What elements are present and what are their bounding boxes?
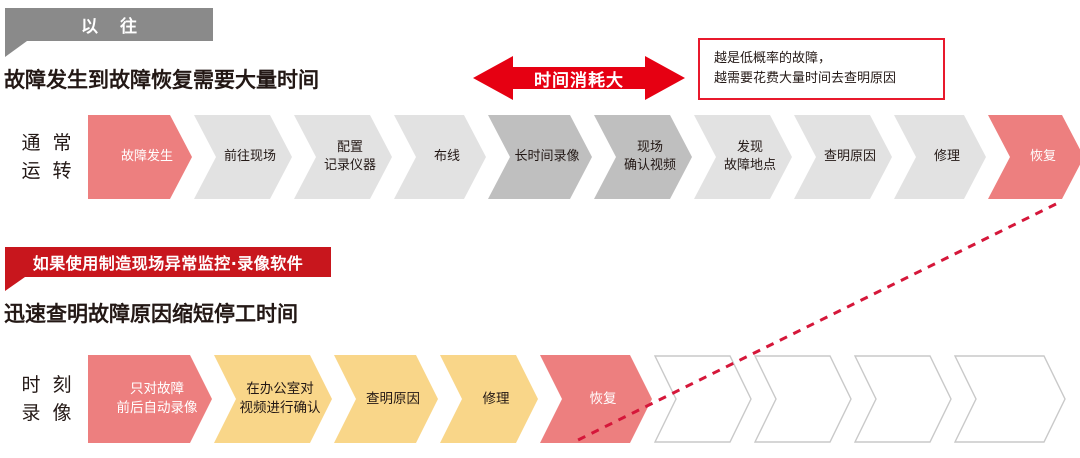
before-heading: 故障发生到故障恢复需要大量时间 xyxy=(4,64,319,94)
after-step-1-label: 只对故障 前后自动录像 xyxy=(103,380,198,417)
before-step-4-label: 布线 xyxy=(420,148,460,166)
after-banner-tail xyxy=(5,277,25,291)
empty-chevron-outline xyxy=(954,355,1066,443)
before-step-10: 恢复 xyxy=(988,115,1080,199)
after-banner: 如果使用制造现场异常监控·录像软件 xyxy=(5,247,331,277)
after-row-label: 时 刻 录 像 xyxy=(12,372,84,427)
before-step-3-label: 配置 记录仪器 xyxy=(310,139,376,175)
before-step-9: 修理 xyxy=(894,115,986,199)
low-probability-callout: 越是低概率的故障， 越需要花费大量时间去查明原因 xyxy=(698,38,945,100)
before-step-8-label: 查明原因 xyxy=(810,148,876,166)
after-heading: 迅速查明故障原因缩短停工时间 xyxy=(4,298,298,328)
before-row-label-line-1: 通 常 xyxy=(12,130,84,158)
after-process-flow: 只对故障 前后自动录像在办公室对 视频进行确认查明原因修理恢复 xyxy=(88,355,1068,443)
before-step-5: 长时间录像 xyxy=(488,115,592,199)
after-step-4-label: 修理 xyxy=(469,390,510,409)
before-step-1: 故障发生 xyxy=(88,115,192,199)
before-process-flow: 故障发生前往现场配置 记录仪器布线长时间录像现场 确认视频发现 故障地点查明原因… xyxy=(88,115,1080,199)
after-step-8 xyxy=(854,355,952,443)
before-row-label-line-2: 运 转 xyxy=(12,158,84,186)
before-step-6: 现场 确认视频 xyxy=(594,115,692,199)
before-step-4: 布线 xyxy=(394,115,486,199)
before-banner-label: 以 往 xyxy=(73,12,145,37)
after-step-3-label: 查明原因 xyxy=(352,390,420,409)
after-step-7 xyxy=(754,355,852,443)
after-step-5: 恢复 xyxy=(540,355,652,443)
before-step-5-label: 长时间录像 xyxy=(500,148,579,166)
infographic-canvas: 以 往 故障发生到故障恢复需要大量时间 时间消耗大 越是低概率的故障， 越需要花… xyxy=(0,0,1080,458)
before-step-2: 前往现场 xyxy=(194,115,292,199)
empty-chevron-outline xyxy=(654,355,752,443)
after-step-6 xyxy=(654,355,752,443)
before-step-1-label: 故障发生 xyxy=(107,148,173,166)
after-step-1: 只对故障 前后自动录像 xyxy=(88,355,212,443)
before-step-7-label: 发现 故障地点 xyxy=(710,139,776,175)
time-consumption-arrow-label: 时间消耗大 xyxy=(473,54,685,102)
before-step-10-label: 恢复 xyxy=(1016,148,1056,166)
after-step-5-label: 恢复 xyxy=(576,390,617,409)
empty-chevron-outline xyxy=(754,355,852,443)
after-row-label-line-1: 时 刻 xyxy=(12,372,84,400)
after-step-2-label: 在办公室对 视频进行确认 xyxy=(226,380,321,417)
before-step-8: 查明原因 xyxy=(794,115,892,199)
before-step-6-label: 现场 确认视频 xyxy=(610,139,676,175)
time-consumption-arrow: 时间消耗大 xyxy=(473,54,685,102)
after-step-2: 在办公室对 视频进行确认 xyxy=(214,355,332,443)
before-banner-tail xyxy=(5,41,27,57)
callout-line-2: 越需要花费大量时间去查明原因 xyxy=(714,69,943,89)
after-step-9 xyxy=(954,355,1066,443)
before-step-3: 配置 记录仪器 xyxy=(294,115,392,199)
before-banner: 以 往 xyxy=(5,8,213,41)
before-step-2-label: 前往现场 xyxy=(210,148,276,166)
before-step-7: 发现 故障地点 xyxy=(694,115,792,199)
after-step-4: 修理 xyxy=(440,355,538,443)
empty-chevron-outline xyxy=(854,355,952,443)
before-row-label: 通 常 运 转 xyxy=(12,130,84,185)
after-step-3: 查明原因 xyxy=(334,355,438,443)
after-banner-label: 如果使用制造现场异常监控·录像软件 xyxy=(33,250,304,274)
before-step-9-label: 修理 xyxy=(920,148,960,166)
after-row-label-line-2: 录 像 xyxy=(12,400,84,428)
callout-line-1: 越是低概率的故障， xyxy=(714,49,943,69)
